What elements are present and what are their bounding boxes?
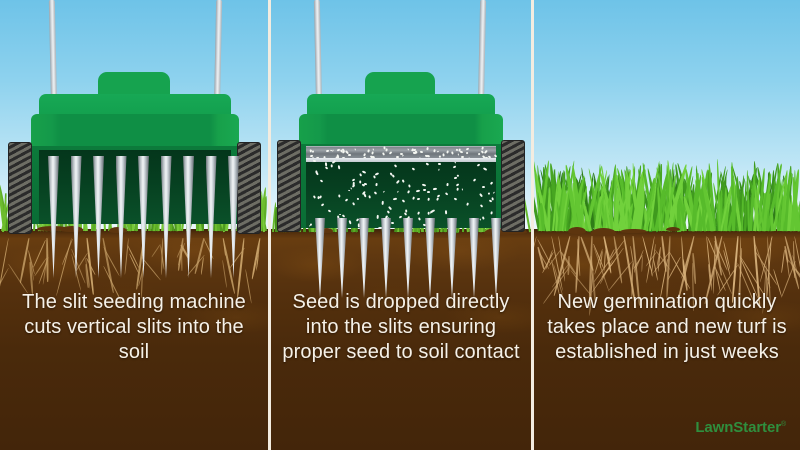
grass-seed — [480, 204, 484, 208]
grass-seed — [391, 222, 394, 224]
grass-seed — [359, 181, 361, 184]
grass-seed — [453, 166, 456, 169]
machine-upper-body — [39, 94, 231, 116]
grass-seed — [369, 196, 372, 200]
grass-seed — [479, 193, 483, 197]
grass-seed — [383, 190, 386, 193]
grass-seed — [362, 183, 365, 186]
grass-seed — [457, 174, 460, 177]
caption-step-3: New germination quickly takes place and … — [538, 290, 796, 365]
grass-seed — [408, 184, 411, 187]
grass-seed — [315, 171, 319, 175]
grass-seed — [337, 165, 340, 169]
machine-body — [299, 114, 503, 144]
soil-clod — [568, 227, 586, 234]
grass-seed — [397, 191, 399, 194]
grass-seed — [326, 150, 329, 152]
grass-seed — [493, 191, 495, 194]
handle-bar-right — [478, 0, 486, 108]
grass-seed — [371, 152, 373, 155]
soil-clod — [620, 229, 647, 234]
grass-seed — [417, 211, 420, 215]
slit-seeder-machine — [0, 0, 268, 250]
grass-seed — [416, 189, 420, 192]
grass-seed — [382, 153, 385, 157]
grass-seed — [443, 153, 445, 156]
grass-seed — [337, 215, 339, 218]
grass-seed — [420, 151, 423, 154]
grass-seed — [489, 199, 493, 202]
grass-seed — [488, 192, 490, 195]
grass-seed — [438, 162, 441, 164]
grass-seed — [431, 209, 435, 213]
grass-seed — [345, 198, 349, 202]
panel-step-3 — [534, 0, 800, 450]
wheel-left — [277, 140, 301, 232]
panel-divider-2 — [531, 0, 534, 450]
grass-seed — [451, 152, 454, 155]
machine-top-cap — [98, 72, 170, 96]
grass-seed — [466, 202, 469, 206]
grass-seed — [415, 151, 418, 154]
panel-divider-1 — [268, 0, 271, 450]
grass-seed — [407, 190, 410, 193]
logo-trademark-icon: ® — [781, 421, 786, 428]
grass-seed — [446, 184, 448, 187]
grass-seed — [373, 175, 376, 178]
grass-seed — [389, 151, 392, 154]
grass-seed — [362, 170, 366, 174]
grass-seed — [444, 211, 447, 215]
grass-seed — [320, 179, 324, 182]
grass-seed — [376, 184, 378, 187]
machine-top-cap — [365, 72, 435, 96]
grass-seed — [426, 163, 429, 166]
wheel-left — [8, 142, 32, 234]
grass-seed — [423, 189, 426, 191]
wheel-right — [501, 140, 525, 232]
grass-seed — [393, 198, 397, 201]
grass-seed — [490, 211, 492, 214]
grass-seed — [401, 200, 404, 203]
grass-seed — [342, 215, 346, 219]
grass-seed — [459, 150, 462, 152]
grass-seed — [438, 169, 440, 172]
caption-step-2: Seed is dropped directly into the slits … — [275, 290, 527, 365]
grass-seed — [356, 218, 359, 221]
grass-seed — [461, 188, 463, 191]
grass-seed — [437, 194, 441, 197]
grass-seed — [396, 180, 400, 184]
grass-seed — [456, 184, 459, 187]
grass-seed — [428, 197, 431, 201]
grass-seed — [427, 191, 430, 193]
grass-seed — [489, 181, 493, 185]
grass-seed — [482, 216, 485, 219]
grass-seed — [319, 196, 322, 199]
grass-seed — [466, 148, 470, 151]
grass-seed — [483, 167, 487, 171]
grass-seed — [436, 197, 439, 201]
grass-seed — [339, 194, 341, 197]
grass-seed — [317, 196, 319, 199]
grass-seed — [382, 201, 384, 205]
grass-seed — [349, 220, 352, 224]
handle-bar-left — [314, 0, 322, 108]
seed-hopper-bar — [306, 146, 496, 158]
grass-seed — [399, 216, 403, 219]
grass-seed — [402, 179, 405, 182]
caption-step-1: The slit seeding machine cuts vertical s… — [8, 290, 260, 365]
wheel-right — [237, 142, 261, 234]
grass-seed — [332, 160, 336, 164]
grass-seed — [359, 173, 362, 177]
machine-blade-cavity — [39, 150, 231, 224]
grass-seed — [387, 210, 390, 213]
grass-seed — [331, 164, 333, 167]
grass-seed — [456, 187, 458, 191]
grass-seed — [313, 195, 316, 198]
grass-seed — [479, 218, 481, 221]
grass-seed — [418, 217, 421, 221]
soil-clod — [591, 228, 617, 236]
grass-seed — [404, 212, 407, 216]
grass-seed — [312, 151, 314, 154]
established-turf — [534, 160, 800, 231]
infographic-root: The slit seeding machine cuts vertical s… — [0, 0, 800, 450]
panel-step-1 — [0, 0, 268, 450]
grass-seed — [417, 198, 421, 201]
grass-seed — [407, 149, 410, 152]
grass-seed — [321, 204, 324, 207]
grass-seed — [348, 154, 351, 156]
grass-seed — [348, 190, 351, 192]
grass-seed — [352, 202, 355, 206]
grass-seed — [411, 167, 414, 170]
grass-seed — [433, 188, 437, 191]
grass-seed — [482, 186, 485, 188]
grass-seed — [372, 148, 374, 151]
grass-seed — [446, 150, 448, 153]
grass-seed — [327, 209, 331, 212]
grass-seed — [412, 196, 415, 200]
grass-seed — [478, 153, 481, 155]
grass-seed — [325, 167, 329, 171]
grass-seed — [393, 164, 397, 168]
grass-seed — [385, 149, 387, 152]
grass-seed — [309, 224, 312, 227]
lawnstarter-logo[interactable]: LawnStarter® — [695, 419, 786, 436]
machine-seed-cavity — [306, 160, 496, 228]
grass-seed — [401, 155, 404, 158]
grass-seed — [453, 197, 456, 200]
grass-seed — [426, 148, 428, 151]
grass-seed — [477, 163, 481, 166]
grass-seed — [354, 149, 356, 152]
grass-seed — [473, 178, 477, 182]
grass-seed — [437, 151, 440, 153]
soil-clod — [666, 227, 680, 231]
machine-body — [31, 114, 239, 146]
grass-seed — [332, 149, 334, 152]
falling-seeds — [306, 160, 496, 228]
grass-seed — [422, 183, 426, 186]
grass-seed — [367, 149, 370, 152]
grass-seed — [376, 215, 378, 219]
slit-seeder-machine — [271, 0, 531, 250]
grass-seed — [454, 177, 457, 179]
grass-seed — [456, 148, 459, 150]
grass-seed — [374, 191, 377, 194]
seeds-in-hopper — [306, 147, 496, 158]
grass-seed — [357, 224, 359, 228]
grass-seed — [434, 149, 436, 152]
grass-seed — [445, 192, 449, 196]
grass-seed — [466, 152, 469, 154]
grass-seed — [357, 198, 360, 200]
grass-seed — [457, 153, 459, 156]
panel-step-2 — [271, 0, 531, 450]
machine-upper-body — [307, 94, 495, 116]
logo-text: LawnStarter — [695, 419, 781, 436]
